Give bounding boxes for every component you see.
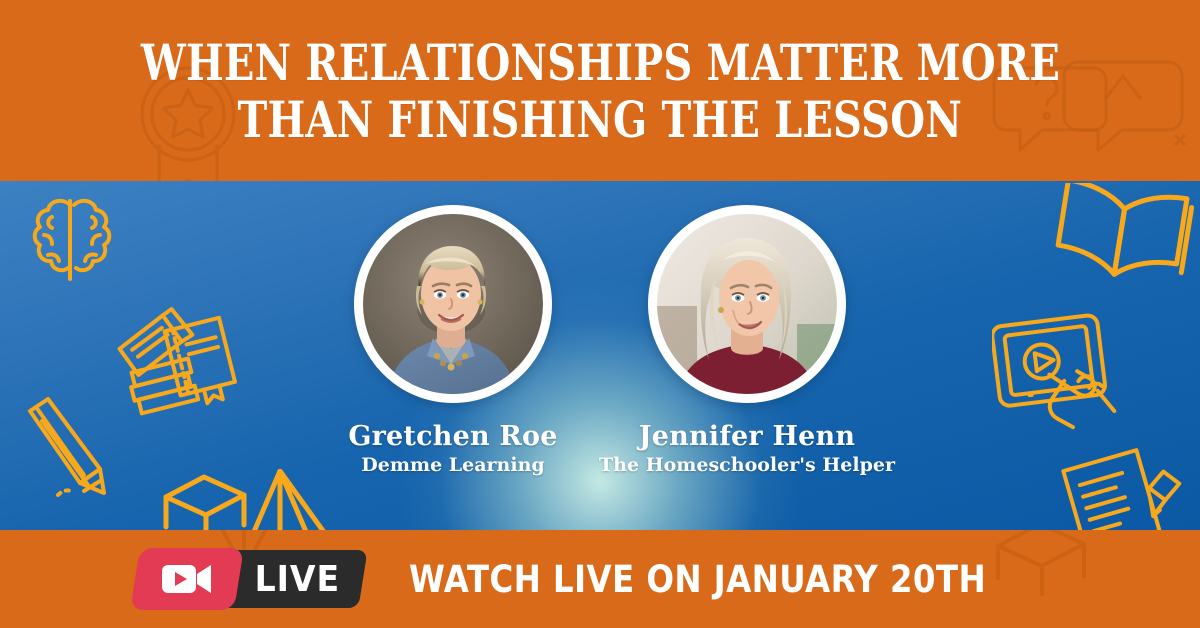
webinar-promo-poster: WHEN RELATIONSHIPS MATTER MORE THAN FINI… xyxy=(0,0,1200,628)
video-camera-icon xyxy=(161,561,213,597)
title-block: WHEN RELATIONSHIPS MATTER MORE THAN FINI… xyxy=(0,0,1200,181)
portrait-gretchen-roe xyxy=(363,214,543,394)
page-title-line-1: WHEN RELATIONSHIPS MATTER MORE xyxy=(140,34,1059,91)
speaker-name: Gretchen Roe xyxy=(348,421,557,452)
speaker-organization: Demme Learning xyxy=(361,454,544,476)
portrait-jennifer-henn xyxy=(657,214,837,394)
header-banner: WHEN RELATIONSHIPS MATTER MORE THAN FINI… xyxy=(0,0,1200,181)
avatar xyxy=(648,205,846,403)
cta-text: WATCH LIVE ON JANUARY 20TH xyxy=(409,558,986,601)
speaker-name: Jennifer Henn xyxy=(639,421,855,452)
live-label: LIVE xyxy=(255,559,340,600)
speakers-row: Gretchen Roe Demme Learning xyxy=(0,181,1200,530)
page-title-line-2: THAN FINISHING THE LESSON xyxy=(238,91,962,148)
speaker-card: Gretchen Roe Demme Learning xyxy=(333,205,573,476)
speaker-organization: The Homeschooler's Helper xyxy=(599,454,895,476)
avatar xyxy=(354,205,552,403)
stage-background: Gretchen Roe Demme Learning xyxy=(0,181,1200,530)
live-badge: LIVE xyxy=(135,548,367,610)
footer-banner: LIVE WATCH LIVE ON JANUARY 20TH xyxy=(0,530,1200,628)
live-icon-square xyxy=(130,548,244,610)
speaker-card: Jennifer Henn The Homeschooler's Helper xyxy=(627,205,867,476)
